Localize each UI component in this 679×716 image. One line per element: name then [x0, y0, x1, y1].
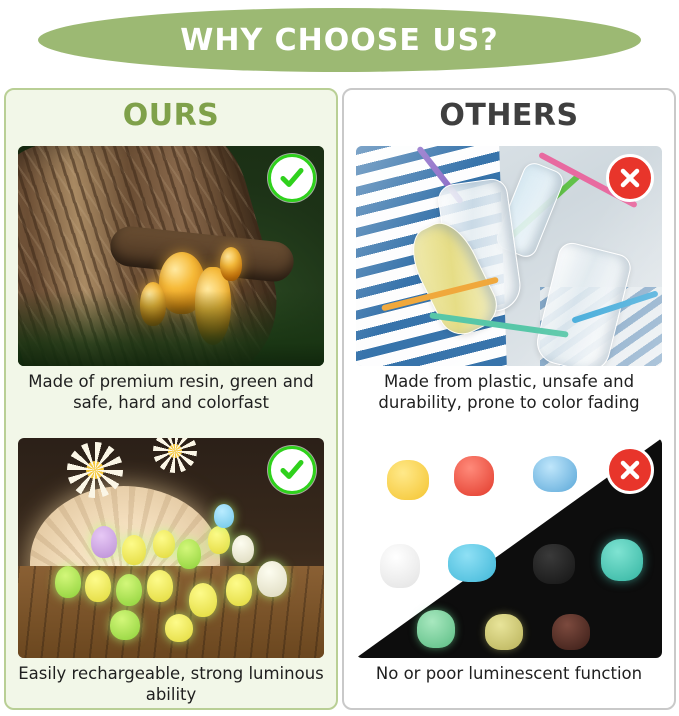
card-caption: Made from plastic, unsafe and durability…	[356, 372, 662, 414]
whale-figure	[448, 544, 496, 582]
glow-figure	[257, 561, 287, 597]
dim-glow-figure	[601, 539, 643, 581]
glow-figure	[177, 539, 201, 569]
glow-figure	[91, 526, 117, 558]
card-ours-resin: Made of premium resin, green and safe, h…	[18, 146, 324, 414]
glow-figure	[189, 583, 217, 617]
panel-ours: OURS Made of premium resin, green a	[4, 88, 338, 710]
tree-resin-photo	[18, 146, 324, 366]
glow-figure	[55, 566, 81, 598]
dark-mushroom-figure	[552, 614, 590, 650]
card-others-plastic: Made from plastic, unsafe and durability…	[356, 146, 662, 414]
page-title: WHY CHOOSE US?	[38, 8, 641, 72]
card-caption: Easily rechargeable, strong luminous abi…	[18, 664, 324, 706]
comparison-panels: OURS Made of premium resin, green a	[0, 88, 679, 716]
dark-figure	[533, 544, 575, 584]
moss-shadow	[18, 291, 324, 366]
glow-figure	[232, 535, 254, 563]
mushroom-figure	[454, 456, 494, 496]
glow-figure	[153, 530, 175, 558]
panel-others: OTHERS	[342, 88, 676, 710]
glow-figure	[110, 610, 140, 640]
dolphin-figure	[533, 456, 577, 492]
glow-figure	[147, 570, 173, 602]
card-caption: Made of premium resin, green and safe, h…	[18, 372, 324, 414]
card-caption: No or poor luminescent function	[356, 664, 662, 685]
glow-figure	[214, 504, 234, 528]
glowing-figures-photo	[18, 438, 324, 658]
cross-icon	[606, 446, 654, 494]
glow-figure	[208, 526, 230, 554]
check-icon	[268, 154, 316, 202]
glow-figure	[165, 614, 193, 642]
cross-icon	[606, 154, 654, 202]
panel-others-title: OTHERS	[344, 98, 674, 133]
check-icon	[268, 446, 316, 494]
dim-glow-figure	[417, 610, 455, 648]
header-banner: WHY CHOOSE US?	[0, 0, 679, 88]
plastic-waste-photo	[356, 146, 662, 366]
glow-figure	[226, 574, 252, 606]
glow-figure	[85, 570, 111, 602]
dim-glow-figure	[485, 614, 523, 650]
duck-figure	[387, 460, 429, 500]
non-luminescent-figures-photo	[356, 438, 662, 658]
panel-ours-title: OURS	[6, 98, 336, 133]
glow-figure	[116, 574, 142, 606]
daisy-flower	[67, 442, 123, 498]
card-others-luminescent: No or poor luminescent function	[356, 438, 662, 685]
daisy-flower	[153, 438, 197, 473]
rabbit-figure	[380, 544, 420, 588]
card-ours-luminous: Easily rechargeable, strong luminous abi…	[18, 438, 324, 706]
resin-drop	[220, 247, 242, 281]
glow-figure	[122, 535, 146, 565]
